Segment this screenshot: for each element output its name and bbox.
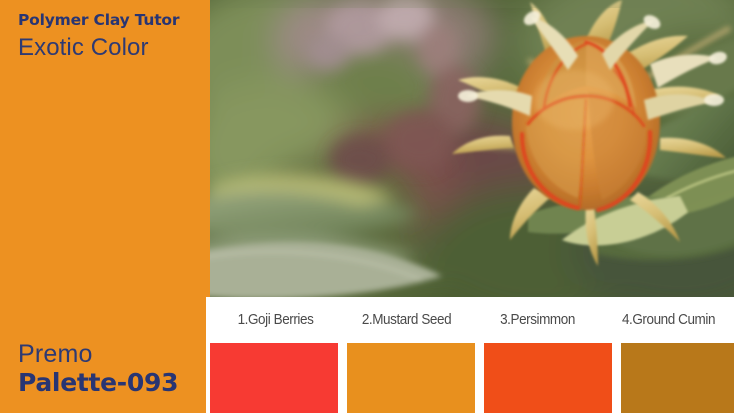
palette-identifier: Premo Palette-093: [18, 340, 208, 397]
swatch-panel: 1.Goji Berries 2.Mustard Seed 3.Persimmo…: [206, 297, 734, 413]
color-palette-card: Polymer Clay Tutor Exotic Color Premo Pa…: [0, 0, 734, 413]
swatch-chip-4[interactable]: [621, 343, 734, 413]
palette-number-label: Palette-093: [18, 368, 208, 397]
brand-header: Polymer Clay Tutor Exotic Color: [18, 11, 208, 62]
brand-subtitle: Exotic Color: [18, 34, 208, 62]
swatch-label-row: 1.Goji Berries 2.Mustard Seed 3.Persimmo…: [210, 297, 734, 343]
swatch-label-4: 4.Ground Cumin: [608, 297, 730, 343]
swatch-label-2: 2.Mustard Seed: [346, 297, 468, 343]
clay-brand-label: Premo: [18, 340, 208, 368]
inspiration-photo: [210, 0, 734, 297]
flower-bud-macro-image: [210, 0, 734, 297]
swatch-chip-3[interactable]: [484, 343, 612, 413]
swatch-label-1: 1.Goji Berries: [215, 297, 337, 343]
swatch-chip-row: [210, 343, 734, 413]
swatch-chip-1[interactable]: [210, 343, 338, 413]
swatch-chip-2[interactable]: [347, 343, 475, 413]
swatch-label-3: 3.Persimmon: [477, 297, 599, 343]
brand-title: Polymer Clay Tutor: [18, 11, 208, 29]
brand-sidebar: Polymer Clay Tutor Exotic Color Premo Pa…: [0, 0, 206, 413]
